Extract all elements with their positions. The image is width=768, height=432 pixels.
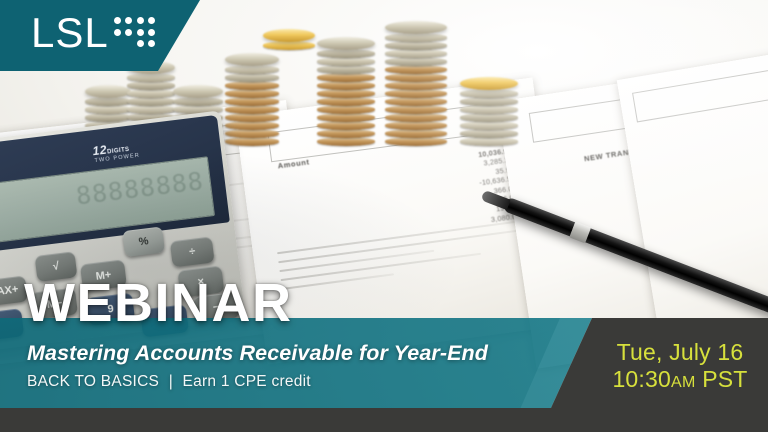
coin-stack-6 [317,22,375,146]
brand-logo[interactable]: LSL [31,12,155,54]
coin-stack-8 [460,50,518,146]
webinar-subtitle: Mastering Accounts Receivable for Year-E… [27,341,488,365]
calculator-key-percent: % [122,226,165,257]
calculator-display-value: 88888888 [74,166,205,210]
webinar-promo-graphic: Amount 10,036.943,285.3035.96-10,636.543… [0,0,768,432]
dot-row-3 [114,40,156,47]
coin-stack-7 [385,4,447,146]
schedule-timezone: PST [702,366,747,392]
coin-stack-5 [263,18,315,146]
page-title: WEBINAR [24,276,292,330]
schedule-time-meridiem: AM [671,374,696,391]
grid-dots-icon [114,17,156,52]
series-label: BACK TO BASICS [27,373,159,390]
schedule-time: 10:30AM PST [612,366,747,396]
calculator-key-divide: ÷ [170,236,215,267]
tagline-separator: | [164,373,178,390]
schedule-time-value: 10:30 [612,366,671,392]
brand-logo-text: LSL [31,12,109,54]
dot-row-1 [114,17,156,24]
far-right-amount-column: 6,119.543,2922,054.40684.80-2,054.400.00… [675,112,768,249]
schedule-date: Tue, July 16 [617,339,744,366]
bottom-bar [0,408,768,432]
dot-row-2 [114,29,156,36]
credit-label: Earn 1 CPE credit [183,373,311,390]
webinar-tagline: BACK TO BASICS | Earn 1 CPE credit [27,372,311,391]
